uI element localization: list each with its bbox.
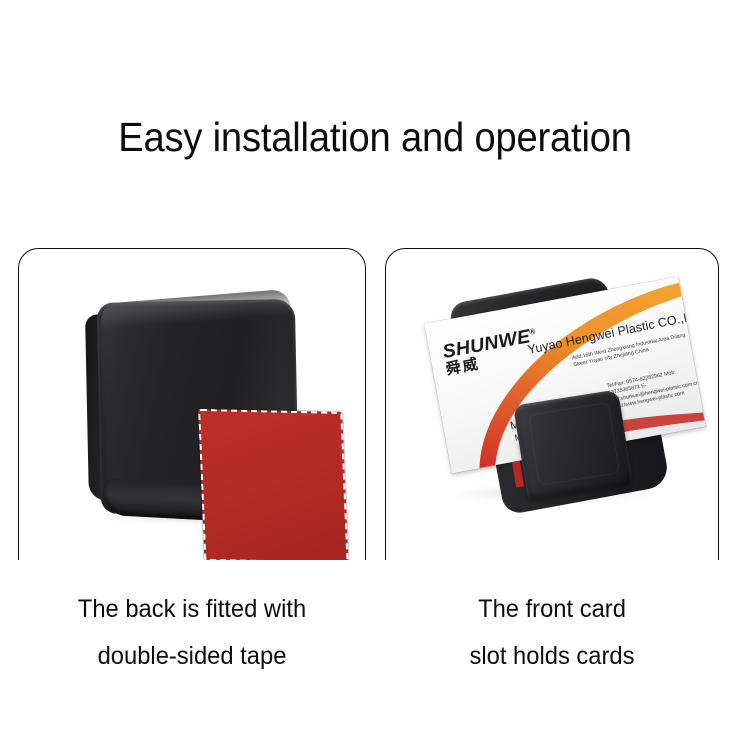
captions-row: The back is fitted with double-sided tap… [0, 586, 750, 696]
card-holder-back-product [85, 299, 301, 516]
page-title: Easy installation and operation [26, 108, 724, 166]
panels-row: SHUNWE® 舜威 Yuyao Hengwei Plastic CO.,LTD… [0, 248, 750, 568]
double-sided-tape-patch [198, 409, 349, 560]
caption-front-line1: The front card [393, 586, 710, 633]
card-contact-info: Tel/Fax: 0574-62282962 Mob: 13735365871 … [606, 365, 702, 412]
caption-back-line1: The back is fitted with [27, 586, 358, 633]
trademark-icon: ® [529, 327, 537, 337]
card-holder-front-product: SHUNWE® 舜威 Yuyao Hengwei Plastic CO.,LTD… [400, 265, 710, 535]
panel-front-stage: SHUNWE® 舜威 Yuyao Hengwei Plastic CO.,LTD… [386, 249, 718, 560]
caption-front: The front card slot holds cards [393, 586, 710, 680]
caption-front-line2: slot holds cards [393, 633, 710, 680]
card-slot-clip [513, 389, 633, 500]
panel-back-stage [19, 249, 365, 560]
panel-front-view: SHUNWE® 舜威 Yuyao Hengwei Plastic CO.,LTD… [385, 248, 719, 560]
panel-back-view [18, 248, 366, 560]
caption-back: The back is fitted with double-sided tap… [27, 586, 358, 680]
caption-back-line2: double-sided tape [27, 633, 358, 680]
